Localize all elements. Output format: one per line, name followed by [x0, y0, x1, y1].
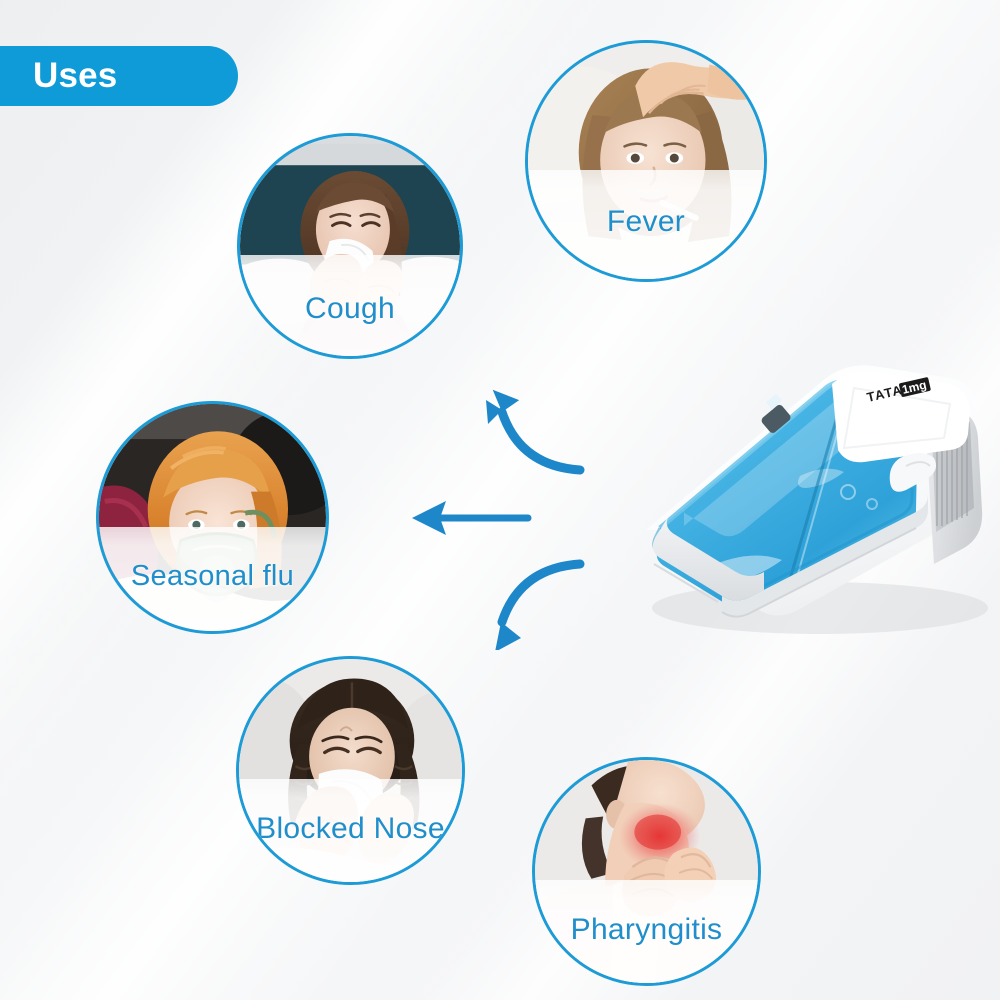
- seasonal-flu-label: Seasonal flu: [131, 560, 294, 593]
- use-circle-cough[interactable]: Cough: [237, 133, 463, 359]
- use-circle-seasonal-flu[interactable]: Seasonal flu: [96, 401, 329, 634]
- arrow-straight: [412, 501, 528, 535]
- use-circle-pharyngitis[interactable]: Pharyngitis: [532, 757, 761, 986]
- nebulizer-device: TATA 1mg: [610, 340, 1000, 650]
- pharyngitis-label: Pharyngitis: [571, 913, 723, 947]
- pharyngitis-caption: Pharyngitis: [532, 880, 761, 983]
- cough-label: Cough: [305, 292, 395, 326]
- blocked-nose-label: Blocked Nose: [256, 812, 445, 846]
- uses-badge: Uses: [0, 46, 238, 106]
- arrow-down-head: [495, 622, 521, 650]
- uses-badge-label: Uses: [0, 56, 117, 96]
- fever-label: Fever: [607, 205, 685, 239]
- arrow-up-shaft: [502, 412, 580, 470]
- seasonal-flu-caption: Seasonal flu: [96, 527, 329, 631]
- use-circle-fever[interactable]: Fever: [525, 40, 767, 282]
- use-circle-blocked-nose[interactable]: Blocked Nose: [236, 656, 465, 885]
- cough-caption: Cough: [237, 255, 463, 356]
- blocked-nose-caption: Blocked Nose: [236, 779, 465, 882]
- arrow-down-shaft: [502, 564, 580, 622]
- fever-caption: Fever: [525, 170, 767, 279]
